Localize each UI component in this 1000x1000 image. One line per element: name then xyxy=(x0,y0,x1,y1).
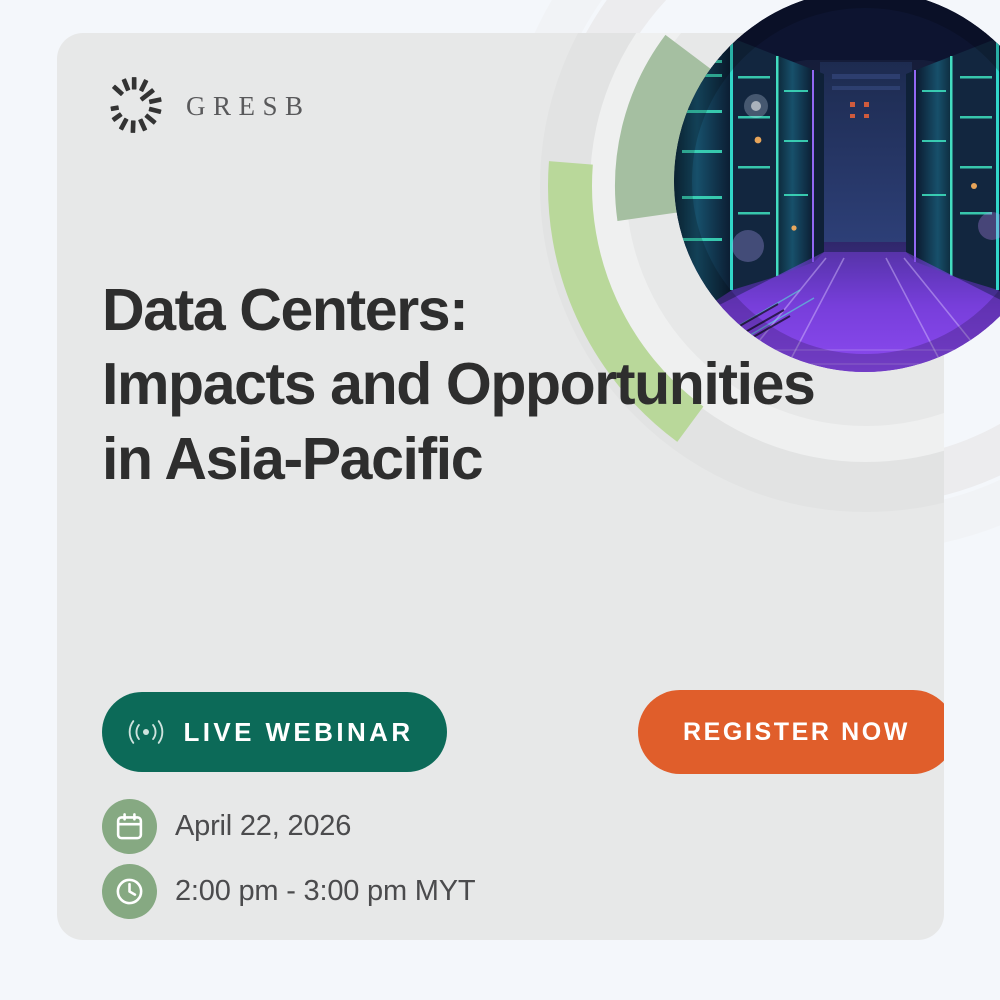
event-time-value: 2:00 pm - 3:00 pm MYT xyxy=(175,877,475,906)
calendar-icon xyxy=(114,811,145,842)
event-date-row: April 22, 2026 xyxy=(102,799,475,854)
event-time-row: 2:00 pm - 3:00 pm MYT xyxy=(102,864,475,919)
gresb-wordmark: GRESB xyxy=(186,91,311,120)
calendar-icon-badge xyxy=(102,799,157,854)
live-webinar-label: LIVE WEBINAR xyxy=(183,719,413,745)
gresb-circular-dash-mark xyxy=(103,74,165,136)
register-now-button[interactable]: REGISTER NOW xyxy=(638,690,944,774)
event-date-value: April 22, 2026 xyxy=(175,812,351,841)
cta-row: LIVE WEBINAR REGISTER NOW xyxy=(102,690,912,774)
brand-logo: GRESB xyxy=(103,74,311,136)
poster-canvas: GRESB Data Centers: Impacts and Opportun… xyxy=(0,0,1000,1000)
broadcast-signal-icon xyxy=(127,716,165,748)
live-webinar-badge: LIVE WEBINAR xyxy=(102,692,447,772)
clock-icon xyxy=(114,876,145,907)
clock-icon-badge xyxy=(102,864,157,919)
event-meta-list: April 22, 2026 2:00 pm - 3:00 pm MYT xyxy=(102,799,475,929)
register-now-label: REGISTER NOW xyxy=(683,720,910,745)
headline-line-3: in Asia-Pacific xyxy=(102,422,922,496)
